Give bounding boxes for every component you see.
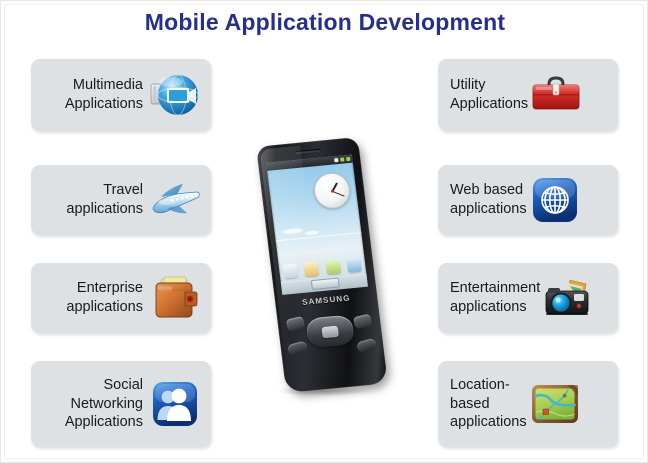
wallpaper-cloud	[305, 230, 319, 235]
phone-device: SAMSUNG	[256, 137, 388, 393]
card-label-enterprise-applications: Enterprise applications	[66, 279, 147, 317]
camera-icon	[540, 270, 596, 326]
multimedia-globe-icon	[147, 67, 203, 123]
people-icon	[147, 376, 203, 432]
card-social-networking-applications[interactable]: Social Networking Applications	[31, 361, 211, 447]
globe-wireframe-icon	[527, 172, 583, 228]
slide-canvas: Mobile Application Development Multimedi…	[0, 0, 648, 463]
card-label-social-networking-applications: Social Networking Applications	[65, 376, 147, 433]
card-label-location-based-applications: Location- based applications	[446, 376, 527, 433]
card-travel-applications[interactable]: Travel applications	[31, 165, 211, 235]
card-enterprise-applications[interactable]: Enterprise applications	[31, 263, 211, 333]
samsung-galaxy-phone: SAMSUNG	[253, 139, 393, 394]
page-title: Mobile Application Development	[1, 9, 648, 36]
dpad-optical-trackpad[interactable]	[305, 314, 354, 348]
app-drawer-handle[interactable]	[311, 277, 340, 290]
app-shortcut-icon[interactable]	[325, 259, 341, 274]
back-key[interactable]	[353, 314, 373, 330]
end-call-key[interactable]	[356, 338, 377, 354]
app-shortcut-icon[interactable]	[346, 257, 362, 272]
card-label-multimedia-applications: Multimedia Applications	[65, 76, 147, 114]
card-label-travel-applications: Travel applications	[66, 181, 147, 219]
app-shortcut-icon[interactable]	[304, 261, 320, 276]
phone-keypad	[284, 308, 377, 362]
wallpaper-cloud	[282, 228, 303, 235]
wallet-icon	[147, 270, 203, 326]
card-label-web-based-applications: Web based applications	[446, 181, 527, 219]
card-label-utility-applications: Utility Applications	[446, 76, 528, 114]
card-label-entertainment-applications: Entertainment applications	[446, 279, 540, 317]
menu-key[interactable]	[286, 316, 306, 332]
phone-screen[interactable]	[266, 155, 368, 295]
card-location-based-applications[interactable]: Location- based applications	[438, 361, 618, 447]
call-key[interactable]	[287, 340, 308, 356]
status-icon-battery	[340, 157, 344, 161]
status-icon-signal	[334, 158, 338, 162]
clock-center-pin	[330, 189, 333, 192]
dpad-center-button[interactable]	[322, 325, 339, 337]
status-icon-time	[346, 157, 350, 161]
app-shortcut-icon[interactable]	[283, 263, 299, 278]
toolbox-icon	[528, 67, 584, 123]
card-utility-applications[interactable]: Utility Applications	[438, 59, 618, 131]
card-web-based-applications[interactable]: Web based applications	[438, 165, 618, 235]
card-multimedia-applications[interactable]: Multimedia Applications	[31, 59, 211, 131]
card-entertainment-applications[interactable]: Entertainment applications	[438, 263, 618, 333]
analog-clock-widget[interactable]	[312, 171, 352, 210]
airplane-icon	[147, 172, 203, 228]
map-icon	[527, 376, 583, 432]
